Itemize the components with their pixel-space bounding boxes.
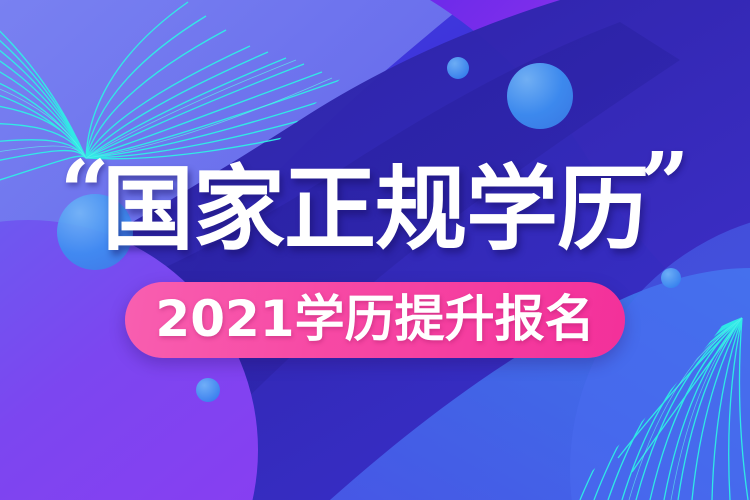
circle-right-of-pill [661, 268, 681, 288]
promo-banner: “ 国家正规学历 ” 2021学历提升报名 [0, 0, 750, 500]
background-artwork [0, 0, 750, 500]
circle-below-pill-left [196, 378, 220, 402]
registration-pill-banner[interactable]: 2021学历提升报名 [125, 282, 625, 358]
circle-top-right-large [507, 63, 573, 129]
circle-top-right-small [447, 57, 469, 79]
closing-quote-mark: ” [640, 142, 689, 228]
opening-quote-mark: “ [60, 150, 109, 236]
pill-label: 2021学历提升报名 [155, 294, 594, 344]
